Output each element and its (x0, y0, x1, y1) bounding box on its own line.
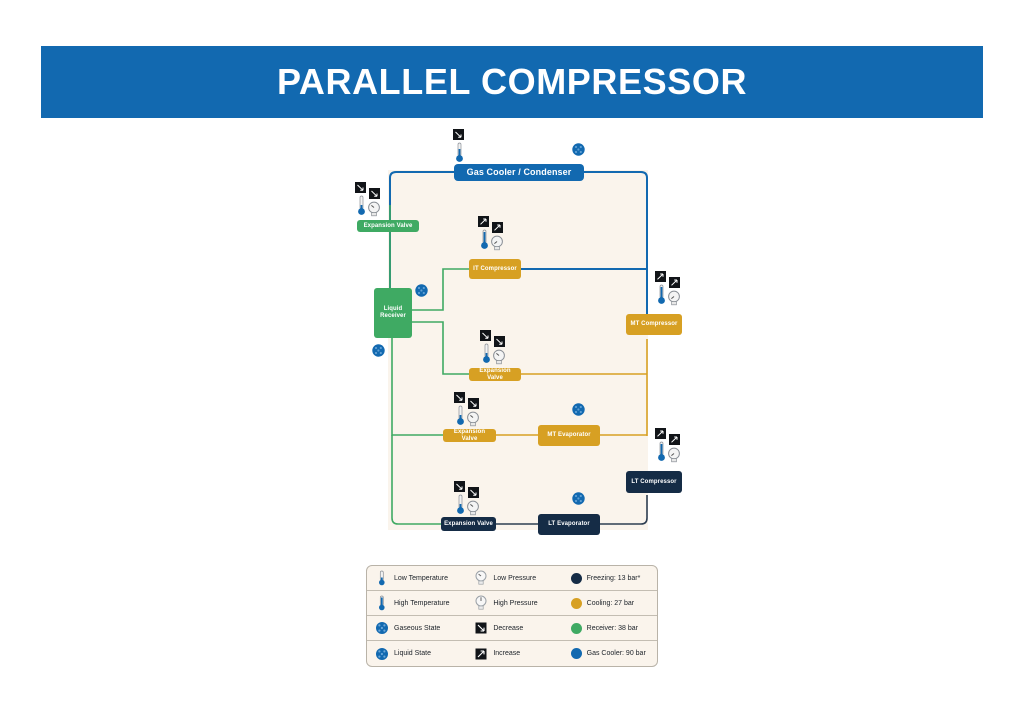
status-swatch-cooling (571, 598, 582, 609)
thermometer-glyph (455, 142, 464, 164)
thermometer-low-icon (456, 394, 465, 427)
gauge-high-icon (667, 440, 681, 463)
legend-item-receiver: Receiver: 38 bar (563, 616, 657, 640)
legend-label: Low Temperature (394, 575, 448, 582)
icons-expansion-valve-4 (456, 483, 480, 516)
legend-item-increase: Increase (466, 641, 562, 666)
legend-label: Liquid State (394, 650, 431, 657)
legend-item-freezing: Freezing: 13 bar* (563, 566, 657, 590)
legend-label: High Pressure (493, 600, 537, 607)
legend-label: Increase (493, 650, 520, 657)
node-mt-evaporator-label: MT Evaporator (547, 432, 590, 439)
process-diagram (388, 170, 648, 530)
node-mt-evaporator[interactable]: MT Evaporator (538, 425, 600, 446)
increase-icon (492, 222, 503, 233)
decrease-icon (494, 336, 505, 347)
legend-item-low-pressure: Low Pressure (466, 566, 562, 590)
legend-row: Liquid State Increase Gas Cooler: 90 bar (367, 641, 657, 666)
icons-lt-compressor (657, 430, 681, 463)
decrease-icon (453, 129, 464, 140)
legend-label: Low Pressure (493, 575, 536, 582)
status-swatch-gas-cooler (571, 648, 582, 659)
legend-row: Gaseous State Decrease Receiver: 38 bar (367, 616, 657, 641)
thermometer-low-icon (455, 130, 464, 164)
node-expansion-valve-3[interactable]: Expansion Valve (443, 429, 496, 442)
node-gas-cooler[interactable]: Gas Cooler / Condenser (454, 164, 584, 181)
node-expansion-valve-2[interactable]: Expansion Valve (469, 368, 521, 381)
gaseous-state-icon (572, 143, 585, 156)
node-liquid-receiver-label: Liquid Receiver (377, 306, 409, 320)
decrease-icon (468, 398, 479, 409)
thermometer-high-icon (375, 595, 389, 611)
icons-expansion-valve-1 (357, 184, 381, 217)
increase-icon (655, 428, 666, 439)
thermometer-high-icon (480, 218, 489, 251)
node-liquid-receiver[interactable]: Liquid Receiver (374, 288, 412, 338)
gauge-low-icon (466, 493, 480, 516)
node-it-compressor-label: IT Compressor (473, 266, 517, 273)
decrease-icon (454, 481, 465, 492)
slide-canvas: PARALLEL COMPRESSOR Gas Cooler / Condens… (0, 0, 1024, 724)
gauge-low-icon (367, 194, 381, 217)
gaseous-state-icon (415, 284, 428, 297)
thermometer-high-icon (657, 430, 666, 463)
icons-expansion-valve-2 (482, 332, 506, 365)
gauge-high-icon (474, 595, 488, 611)
decrease-icon (369, 188, 380, 199)
node-expansion-valve-3-label: Expansion Valve (446, 429, 493, 443)
thermometer-low-icon (375, 570, 389, 586)
thermometer-low-icon (482, 332, 491, 365)
legend-item-high-temperature: High Temperature (367, 591, 466, 615)
legend-label: Gaseous State (394, 625, 440, 632)
gaseous-state-icon (375, 620, 389, 636)
legend-item-high-pressure: High Pressure (466, 591, 562, 615)
thermometer-low-icon (456, 483, 465, 516)
increase-icon (669, 277, 680, 288)
gaseous-state-icon (572, 492, 585, 505)
node-gas-cooler-label: Gas Cooler / Condenser (467, 167, 572, 177)
node-expansion-valve-2-label: Expansion Valve (472, 368, 518, 382)
increase-icon (669, 434, 680, 445)
liquid-state-icon (372, 344, 385, 357)
legend-label: Decrease (493, 625, 523, 632)
legend-item-low-temperature: Low Temperature (367, 566, 466, 590)
legend-row: Low Temperature Low Pressure Freezing: 1… (367, 566, 657, 591)
title-banner: PARALLEL COMPRESSOR (41, 46, 983, 118)
legend-row: High Temperature High Pressure Cooling: … (367, 591, 657, 616)
page-title: PARALLEL COMPRESSOR (277, 61, 747, 103)
thermometer-low-icon (357, 184, 366, 217)
legend-panel: Low Temperature Low Pressure Freezing: 1… (366, 565, 658, 667)
gauge-high-icon (490, 228, 504, 251)
node-it-compressor[interactable]: IT Compressor (469, 259, 521, 279)
decrease-icon (474, 620, 488, 636)
status-swatch-freezing (571, 573, 582, 584)
node-lt-compressor[interactable]: LT Compressor (626, 471, 682, 493)
legend-item-decrease: Decrease (466, 616, 562, 640)
thermometer-high-icon (657, 273, 666, 306)
node-lt-compressor-label: LT Compressor (631, 479, 676, 486)
node-mt-compressor[interactable]: MT Compressor (626, 314, 682, 335)
legend-item-cooling: Cooling: 27 bar (563, 591, 657, 615)
gauge-low-icon (474, 570, 488, 586)
icons-mt-compressor (657, 273, 681, 306)
node-lt-evaporator-label: LT Evaporator (548, 521, 590, 528)
gauge-low-icon (466, 404, 480, 427)
legend-label: Gas Cooler: 90 bar (587, 650, 646, 657)
node-mt-compressor-label: MT Compressor (631, 321, 678, 328)
node-expansion-valve-1[interactable]: Expansion Valve (357, 220, 419, 232)
decrease-icon (480, 330, 491, 341)
legend-label: High Temperature (394, 600, 450, 607)
node-lt-evaporator[interactable]: LT Evaporator (538, 514, 600, 535)
increase-icon (474, 646, 488, 662)
status-swatch-receiver (571, 623, 582, 634)
icons-expansion-valve-3 (456, 394, 480, 427)
legend-item-liquid-state: Liquid State (367, 641, 466, 666)
decrease-icon (454, 392, 465, 403)
node-expansion-valve-4[interactable]: Expansion Valve (441, 517, 496, 531)
node-expansion-valve-1-label: Expansion Valve (364, 223, 413, 230)
increase-icon (478, 216, 489, 227)
icons-gas-cooler (455, 130, 464, 164)
legend-label: Receiver: 38 bar (587, 625, 638, 632)
gauge-low-icon (492, 342, 506, 365)
gauge-high-icon (667, 283, 681, 306)
gaseous-state-icon (572, 403, 585, 416)
legend-label: Freezing: 13 bar* (587, 575, 641, 582)
legend-item-gaseous-state: Gaseous State (367, 616, 466, 640)
node-expansion-valve-4-label: Expansion Valve (444, 521, 493, 528)
legend-label: Cooling: 27 bar (587, 600, 634, 607)
decrease-icon (468, 487, 479, 498)
decrease-icon (355, 182, 366, 193)
increase-icon (655, 271, 666, 282)
liquid-state-icon (375, 646, 389, 662)
legend-item-gas-cooler: Gas Cooler: 90 bar (563, 641, 657, 666)
icons-it-compressor (480, 218, 504, 251)
